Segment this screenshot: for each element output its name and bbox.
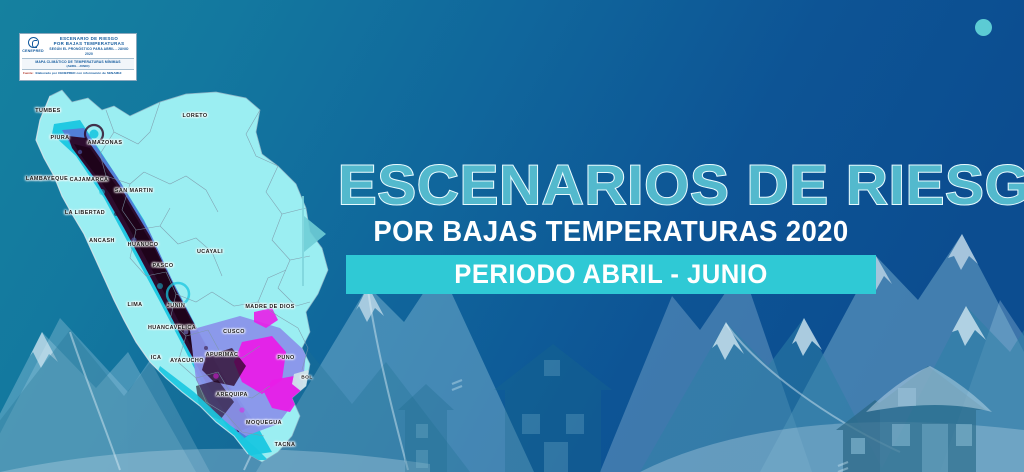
- map-region-label: MOQUEGUA: [246, 420, 282, 426]
- map-region-label: LAMBAYEQUE: [26, 176, 68, 182]
- legend-title-line2: POR BAJAS TEMPERATURAS: [46, 41, 132, 46]
- legend-source-text: Elaborado por CENEPRED con información d…: [35, 71, 121, 75]
- legend-title-line3: SEGÚN EL PRONÓSTICO PARA ABRIL - JUNIO 2…: [46, 47, 132, 56]
- map-region-label: MADRE DE DIOS: [245, 304, 294, 310]
- map-region-label: CAJAMARCA: [70, 177, 109, 183]
- map-region-label: ANCASH: [89, 238, 115, 244]
- page-title: ESCENARIOS DE RIESGO: [338, 158, 884, 212]
- map-region-label: APURIMAC: [206, 352, 239, 358]
- map-region-label: JUNIN: [167, 303, 185, 309]
- map-region-label: ICA: [151, 355, 162, 361]
- map-region-label: PASCO: [152, 263, 173, 269]
- map-legend-card: CENEPRED ESCENARIO DE RIESGO POR BAJAS T…: [19, 33, 137, 81]
- map-region-label: TACNA: [275, 442, 296, 448]
- map-region-label: PUNO: [277, 355, 294, 361]
- legend-band-line2: (ABRIL - JUNIO): [22, 64, 134, 68]
- period-banner-label: PERIODO ABRIL - JUNIO: [454, 259, 768, 290]
- map-region-label: LIMA: [128, 302, 143, 308]
- page-subtitle: POR BAJAS TEMPERATURAS 2020: [359, 216, 863, 248]
- map-region-label: SAN MARTIN: [115, 188, 153, 194]
- risk-scenario-banner: TUMBES PIURA AMAZONAS LORETO LAMBAYEQUE …: [0, 0, 1024, 472]
- map-region-label: PIURA: [50, 135, 69, 141]
- play-triangle-icon: [304, 216, 326, 252]
- map-neighbor-label: BOL: [301, 376, 312, 381]
- map-region-label: LORETO: [182, 113, 207, 119]
- map-region-label: AREQUIPA: [216, 392, 248, 398]
- cenepred-logo-text: CENEPRED: [22, 49, 44, 53]
- map-region-label: HUANCAVELICA: [148, 325, 196, 331]
- map-region-label: HUANUCO: [128, 242, 159, 248]
- circle-dot-decoration: [975, 19, 992, 36]
- map-region-label: UCAYALI: [197, 249, 223, 255]
- map-region-label: CUSCO: [223, 329, 245, 335]
- map-region-label: LA LIBERTAD: [65, 210, 105, 216]
- legend-source-row: Fuente: Elaborado por CENEPRED con infor…: [22, 70, 134, 75]
- title-block: ESCENARIOS DE RIESGO POR BAJAS TEMPERATU…: [346, 158, 876, 294]
- cenepred-logo: CENEPRED: [22, 36, 44, 53]
- map-region-label: TUMBES: [35, 108, 60, 114]
- map-region-label: AMAZONAS: [88, 140, 123, 146]
- legend-source-label: Fuente:: [23, 71, 33, 75]
- map-region-label: AYACUCHO: [170, 358, 204, 364]
- cenepred-emblem-icon: [28, 37, 39, 48]
- legend-subtitle-band: MAPA CLIMÁTICO DE TEMPERATURAS MÍNIMAS (…: [22, 58, 134, 70]
- period-banner: PERIODO ABRIL - JUNIO: [346, 255, 876, 294]
